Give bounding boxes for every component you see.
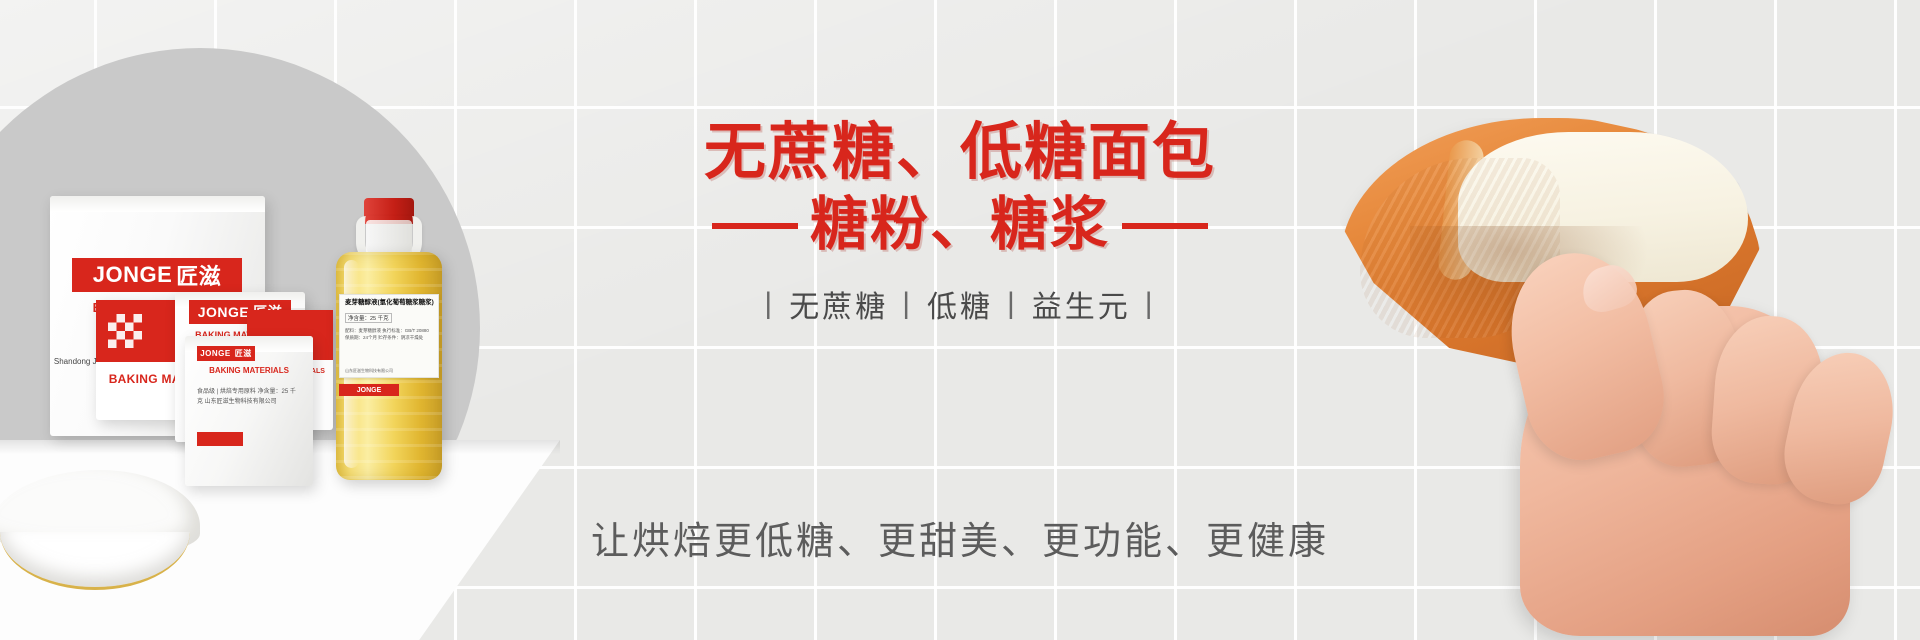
sachet-red-block xyxy=(197,432,243,446)
bottle-label-title: 麦芽糖醇液(氢化葡萄糖浆糖浆) xyxy=(345,299,433,307)
headline-secondary: 糖粉、糖浆 xyxy=(810,195,1110,256)
tagline: 让烘焙更低糖、更甜美、更功能、更健康 xyxy=(520,510,1400,565)
brand-name-cn: 匠滋 xyxy=(176,259,221,291)
brand-name-en: JONGE xyxy=(198,304,250,320)
bottle-label: 麦芽糖醇液(氢化葡萄糖浆糖浆) 净含量：25 千克 配料：麦芽糖醇液 执行标准：… xyxy=(339,294,439,378)
feature-separator: | xyxy=(764,287,775,321)
product-sachet-front: JONGE 匠滋 BAKING MATERIALS 食品级 | 烘焙专用原料 净… xyxy=(185,336,313,486)
brand-name-cn: 匠滋 xyxy=(235,348,252,359)
feature-separator-end: | xyxy=(1145,287,1156,321)
bottle-label-net-weight: 净含量：25 千克 xyxy=(345,313,392,323)
checker-pattern-icon xyxy=(108,314,142,348)
feature-item-3: 益生元 xyxy=(1032,282,1131,326)
sugar-powder-bowl xyxy=(0,470,200,590)
headline-primary: 无蔗糖、低糖面包 xyxy=(640,120,1280,185)
promo-banner: JONGE 匠滋 BAKING MATERIALS Shandong Jonge… xyxy=(0,0,1920,640)
product-syrup-bottle: 麦芽糖醇液(氢化葡萄糖浆糖浆) 净含量：25 千克 配料：麦芽糖醇液 执行标准：… xyxy=(330,198,448,480)
bottle-label-details: 配料：麦芽糖醇液 执行标准：GB/T 20880 保质期：24个月 贮存条件：阴… xyxy=(345,328,433,342)
feature-item-1: 无蔗糖 xyxy=(789,282,888,326)
brand-name-en: JONGE xyxy=(357,387,382,394)
bottle-neck xyxy=(366,220,412,256)
feature-item-2: 低糖 xyxy=(927,282,993,326)
bowl-rim xyxy=(0,532,190,590)
headline-block: 无蔗糖、低糖面包 糖粉、糖浆 | 无蔗糖 | 低糖 | 益生元 | xyxy=(640,120,1280,326)
headline-secondary-row: 糖粉、糖浆 xyxy=(640,195,1280,256)
rule-left-icon xyxy=(712,223,798,229)
brand-logo-bar: JONGE 匠滋 xyxy=(72,258,242,292)
bottle-brand-chip: JONGE xyxy=(339,384,399,396)
bottle-label-footer: 山东匠滋生物科技有限公司 xyxy=(345,368,393,374)
bag-top-fold xyxy=(50,196,265,212)
brand-name-en: JONGE xyxy=(93,262,173,288)
sachet-subtitle: BAKING MATERIALS xyxy=(185,366,313,375)
sachet-body-text: 食品级 | 烘焙专用原料 净含量：25 千克 山东匠滋生物科技有限公司 xyxy=(197,388,301,407)
hand-image xyxy=(1330,196,1850,640)
feature-separator: | xyxy=(1007,287,1018,321)
feature-list: | 无蔗糖 | 低糖 | 益生元 | xyxy=(640,282,1280,326)
brand-name-en: JONGE xyxy=(200,349,231,358)
brand-logo-bar-sachet: JONGE 匠滋 xyxy=(197,346,255,361)
feature-separator: | xyxy=(902,287,913,321)
rule-right-icon xyxy=(1122,223,1208,229)
